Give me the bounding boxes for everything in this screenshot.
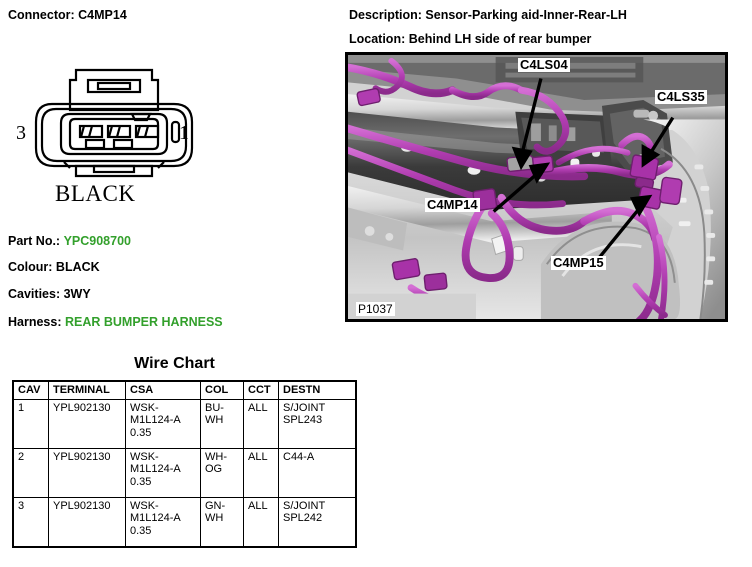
wire-chart-table: CAV TERMINAL CSA COL CCT DESTN 1 YPL9021… (12, 380, 357, 548)
callout-label-c4mp15: C4MP15 (551, 256, 606, 270)
connector-heading-label: Connector: (8, 8, 75, 22)
cell-col: BU-WH (201, 399, 244, 448)
callout-label-c4ls35: C4LS35 (655, 90, 707, 104)
callout-label-c4ls04: C4LS04 (518, 58, 570, 72)
location-label: Location: (349, 32, 405, 46)
description-label: Description: (349, 8, 422, 22)
column-header-terminal: TERMINAL (49, 381, 126, 399)
photo-reference-tag: P1037 (356, 302, 395, 316)
table-row: 3 YPL902130 WSK-M1L124-A 0.35 GN-WH ALL … (13, 497, 356, 547)
connector-heading-value: C4MP14 (78, 8, 127, 22)
callout-label-c4mp14: C4MP14 (425, 198, 480, 212)
spec-part-number: Part No.: YPC908700 (8, 234, 131, 248)
spec-cavities: Cavities: 3WY (8, 287, 91, 301)
cell-csa: WSK-M1L124-A 0.35 (126, 399, 201, 448)
spec-colour-label: Colour: (8, 260, 52, 274)
connector-heading: Connector: C4MP14 (8, 8, 127, 22)
cell-cav: 1 (13, 399, 49, 448)
pin-number-3-label: 3 (16, 122, 26, 145)
location-value: Behind LH side of rear bumper (409, 32, 592, 46)
cell-destn: S/JOINT SPL243 (279, 399, 357, 448)
cell-col: WH-OG (201, 448, 244, 497)
description-line: Description: Sensor-Parking aid-Inner-Re… (349, 8, 627, 22)
column-header-cav: CAV (13, 381, 49, 399)
column-header-csa: CSA (126, 381, 201, 399)
spec-colour-value: BLACK (56, 260, 100, 274)
cell-terminal: YPL902130 (49, 399, 126, 448)
cell-terminal: YPL902130 (49, 497, 126, 547)
cell-col: GN-WH (201, 497, 244, 547)
cell-csa: WSK-M1L124-A 0.35 (126, 497, 201, 547)
cell-csa: WSK-M1L124-A 0.35 (126, 448, 201, 497)
spec-cavities-value: 3WY (64, 287, 91, 301)
cell-cav: 2 (13, 448, 49, 497)
cell-terminal: YPL902130 (49, 448, 126, 497)
spec-colour: Colour: BLACK (8, 260, 100, 274)
table-row: 1 YPL902130 WSK-M1L124-A 0.35 BU-WH ALL … (13, 399, 356, 448)
column-header-cct: CCT (244, 381, 279, 399)
wire-chart-title: Wire Chart (0, 355, 349, 373)
connector-colour-caption: BLACK (55, 181, 135, 207)
cell-cct: ALL (244, 448, 279, 497)
cell-destn: C44-A (279, 448, 357, 497)
column-header-destn: DESTN (279, 381, 357, 399)
cell-destn: S/JOINT SPL242 (279, 497, 357, 547)
cell-cct: ALL (244, 399, 279, 448)
spec-harness-label: Harness: (8, 315, 62, 329)
column-header-col: COL (201, 381, 244, 399)
description-value: Sensor-Parking aid-Inner-Rear-LH (425, 8, 626, 22)
spec-cavities-label: Cavities: (8, 287, 60, 301)
location-line: Location: Behind LH side of rear bumper (349, 32, 591, 46)
spec-harness-value: REAR BUMPER HARNESS (65, 315, 223, 329)
cell-cct: ALL (244, 497, 279, 547)
cell-cav: 3 (13, 497, 49, 547)
table-header-row: CAV TERMINAL CSA COL CCT DESTN (13, 381, 356, 399)
pin-number-1-label: 1 (179, 122, 189, 145)
table-row: 2 YPL902130 WSK-M1L124-A 0.35 WH-OG ALL … (13, 448, 356, 497)
spec-part-number-value: YPC908700 (64, 234, 131, 248)
spec-harness: Harness: REAR BUMPER HARNESS (8, 315, 223, 329)
spec-part-number-label: Part No.: (8, 234, 60, 248)
